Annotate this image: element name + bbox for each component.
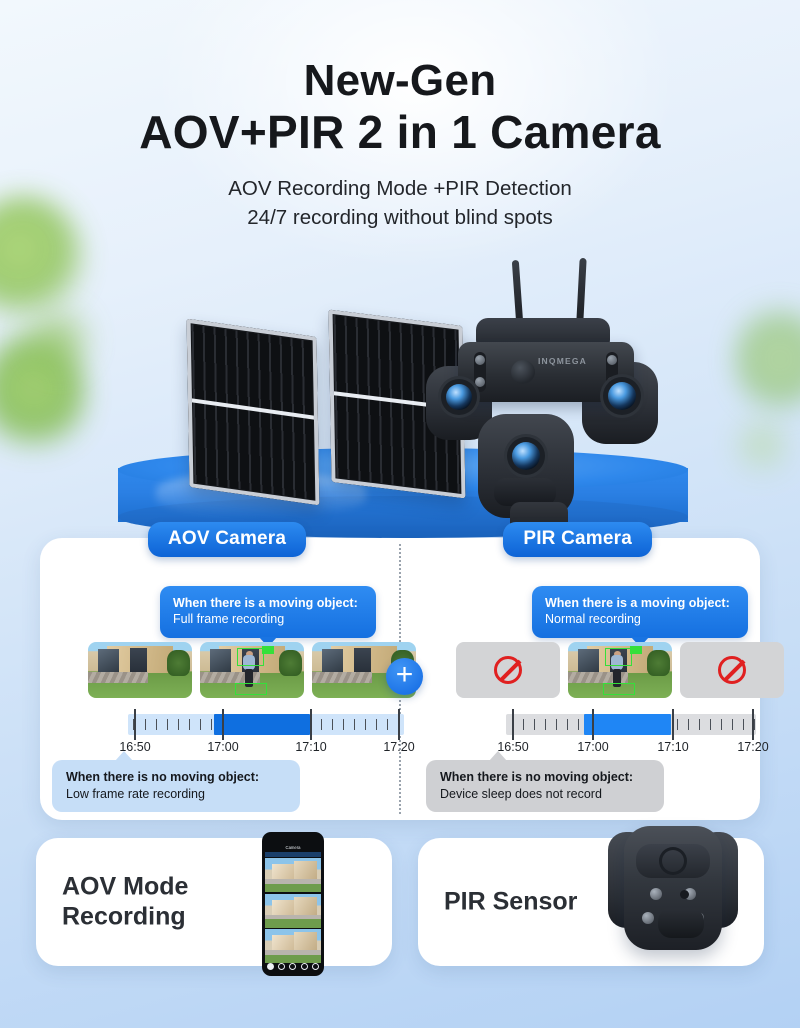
scene-window bbox=[578, 649, 599, 674]
callout-pir-idle: When there is no moving object: Device s… bbox=[426, 760, 664, 812]
plus-combiner-icon: + bbox=[386, 658, 423, 695]
feature-card-pir-sensor: PIR Sensor bbox=[418, 838, 764, 966]
feature-card-aov-title-line2: Recording bbox=[62, 902, 188, 932]
more-button-icon[interactable] bbox=[312, 963, 319, 970]
phone-screen-title: Camera bbox=[286, 845, 301, 850]
badge-aov-camera: AOV Camera bbox=[148, 522, 306, 557]
microphone-icon bbox=[680, 890, 689, 899]
hero-product-image: INQMEGA bbox=[0, 256, 800, 546]
phone-video-pane bbox=[265, 894, 321, 928]
timeline-track bbox=[506, 714, 756, 735]
plus-symbol: + bbox=[396, 660, 414, 690]
timeline-label: 17:10 bbox=[657, 740, 688, 754]
timeline-label: 17:00 bbox=[207, 740, 238, 754]
timeline-label: 17:00 bbox=[577, 740, 608, 754]
timeline-pir: 16:50 17:00 17:10 17:20 bbox=[506, 714, 756, 756]
thumbnail-strip-aov bbox=[88, 642, 416, 698]
phone-status-bar: Camera bbox=[265, 843, 321, 851]
feature-card-aov-title: AOV Mode Recording bbox=[62, 873, 188, 932]
promo-page: New-Gen AOV+PIR 2 in 1 Camera AOV Record… bbox=[0, 0, 800, 1028]
pir-sensor-icon bbox=[658, 908, 704, 938]
timeline-track bbox=[128, 714, 404, 735]
pane-road bbox=[265, 879, 321, 884]
no-recording-icon bbox=[718, 656, 746, 684]
callout-pir-idle-line1: When there is no moving object: bbox=[440, 769, 650, 786]
callout-aov-moving-line2: Full frame recording bbox=[173, 611, 363, 627]
camera-body bbox=[624, 826, 722, 950]
timeline-recorded-segment bbox=[214, 714, 311, 735]
timeline-major-tick bbox=[134, 709, 136, 740]
pane-house bbox=[272, 900, 297, 915]
callout-pir-moving-line2: Normal recording bbox=[545, 611, 735, 627]
record-button-icon[interactable] bbox=[267, 963, 274, 970]
page-title-line1: New-Gen bbox=[0, 58, 800, 105]
scene-window bbox=[98, 649, 119, 674]
timeline-major-tick bbox=[310, 709, 312, 740]
subtitle: AOV Recording Mode +PIR Detection 24/7 r… bbox=[0, 174, 800, 232]
callout-pir-moving: When there is a moving object: Normal re… bbox=[532, 586, 748, 638]
antenna-icon bbox=[576, 258, 586, 322]
thumbnail-frame bbox=[88, 642, 192, 698]
pane-house bbox=[272, 935, 297, 950]
camera-lens-icon bbox=[662, 850, 684, 872]
feature-card-aov-title-line1: AOV Mode bbox=[62, 873, 188, 903]
pane-road bbox=[265, 950, 321, 955]
detection-box-icon bbox=[603, 683, 634, 694]
pane-road bbox=[265, 915, 321, 920]
mic-button-icon[interactable] bbox=[278, 963, 285, 970]
solar-panel-icon bbox=[187, 319, 320, 506]
callout-pir-moving-line1: When there is a moving object: bbox=[545, 595, 735, 611]
scene-window bbox=[210, 649, 231, 674]
scene-bush bbox=[279, 650, 302, 676]
pane-house bbox=[294, 861, 316, 879]
timeline-major-tick bbox=[222, 709, 224, 740]
timeline-major-tick bbox=[752, 709, 754, 740]
timeline-major-tick bbox=[398, 709, 400, 740]
no-recording-icon bbox=[494, 656, 522, 684]
timeline-labels: 16:50 17:00 17:10 17:20 bbox=[506, 740, 756, 756]
security-camera-product: INQMEGA bbox=[432, 256, 662, 522]
scene-window bbox=[322, 649, 343, 674]
pir-camera-closeup bbox=[598, 822, 748, 972]
thumbnail-strip-pir bbox=[456, 642, 784, 698]
thumbnail-frame-detected bbox=[200, 642, 304, 698]
ir-led-icon bbox=[642, 912, 654, 924]
detection-tag-icon bbox=[262, 646, 273, 654]
pane-house bbox=[272, 864, 297, 879]
thumbnail-no-recording bbox=[456, 642, 560, 698]
timeline-major-tick bbox=[512, 709, 514, 740]
brand-label: INQMEGA bbox=[538, 356, 600, 367]
detection-tag-icon bbox=[630, 646, 641, 654]
detection-box-icon bbox=[237, 648, 264, 666]
scene-bush bbox=[167, 650, 190, 676]
timeline-label: 17:20 bbox=[383, 740, 414, 754]
callout-aov-moving: When there is a moving object: Full fram… bbox=[160, 586, 376, 638]
detection-box-icon bbox=[605, 648, 632, 666]
antenna-icon bbox=[512, 260, 523, 324]
camera-lens-icon bbox=[608, 382, 636, 410]
header: New-Gen AOV+PIR 2 in 1 Camera AOV Record… bbox=[0, 58, 800, 232]
subtitle-line1: AOV Recording Mode +PIR Detection bbox=[0, 174, 800, 203]
snapshot-button-icon[interactable] bbox=[289, 963, 296, 970]
timeline-label: 17:20 bbox=[737, 740, 768, 754]
timeline-label: 17:10 bbox=[295, 740, 326, 754]
badge-pir-camera: PIR Camera bbox=[503, 522, 652, 557]
feature-card-pir-title: PIR Sensor bbox=[444, 887, 577, 917]
callout-aov-idle: When there is no moving object: Low fram… bbox=[52, 760, 300, 812]
feature-card-aov-mode: AOV Mode Recording Camera bbox=[36, 838, 392, 966]
timeline-major-tick bbox=[592, 709, 594, 740]
callout-aov-idle-line2: Low frame rate recording bbox=[66, 786, 286, 803]
timeline-labels: 16:50 17:00 17:10 17:20 bbox=[128, 740, 404, 756]
pane-house bbox=[294, 897, 316, 915]
phone-video-pane bbox=[265, 929, 321, 963]
callout-aov-idle-line1: When there is no moving object: bbox=[66, 769, 286, 786]
thumbnail-no-recording bbox=[680, 642, 784, 698]
playback-button-icon[interactable] bbox=[301, 963, 308, 970]
ir-led-icon bbox=[650, 888, 662, 900]
timeline-major-tick bbox=[672, 709, 674, 740]
scene-path bbox=[88, 672, 148, 683]
callout-pir-idle-line2: Device sleep does not record bbox=[440, 786, 650, 803]
phone-video-pane bbox=[265, 858, 321, 892]
phone-info-strip bbox=[265, 852, 321, 857]
scene-path bbox=[312, 672, 372, 683]
phone-control-bar[interactable] bbox=[265, 960, 321, 973]
camera-lens-icon bbox=[512, 442, 540, 470]
pane-house bbox=[294, 932, 316, 950]
scene-bush bbox=[647, 650, 670, 676]
camera-center-sensor bbox=[511, 360, 535, 384]
page-title-line2: AOV+PIR 2 in 1 Camera bbox=[0, 107, 800, 159]
subtitle-line2: 24/7 recording without blind spots bbox=[0, 203, 800, 232]
solar-panel-frame bbox=[187, 319, 320, 506]
callout-aov-moving-line1: When there is a moving object: bbox=[173, 595, 363, 611]
camera-lens-icon bbox=[446, 384, 472, 410]
detection-box-icon bbox=[235, 683, 266, 694]
thumbnail-frame-detected bbox=[568, 642, 672, 698]
ir-led-column-icon bbox=[474, 352, 486, 392]
timeline-aov: 16:50 17:00 17:10 17:20 bbox=[128, 714, 404, 756]
timeline-recorded-segment bbox=[584, 714, 672, 735]
phone-mockup: Camera bbox=[262, 832, 324, 976]
